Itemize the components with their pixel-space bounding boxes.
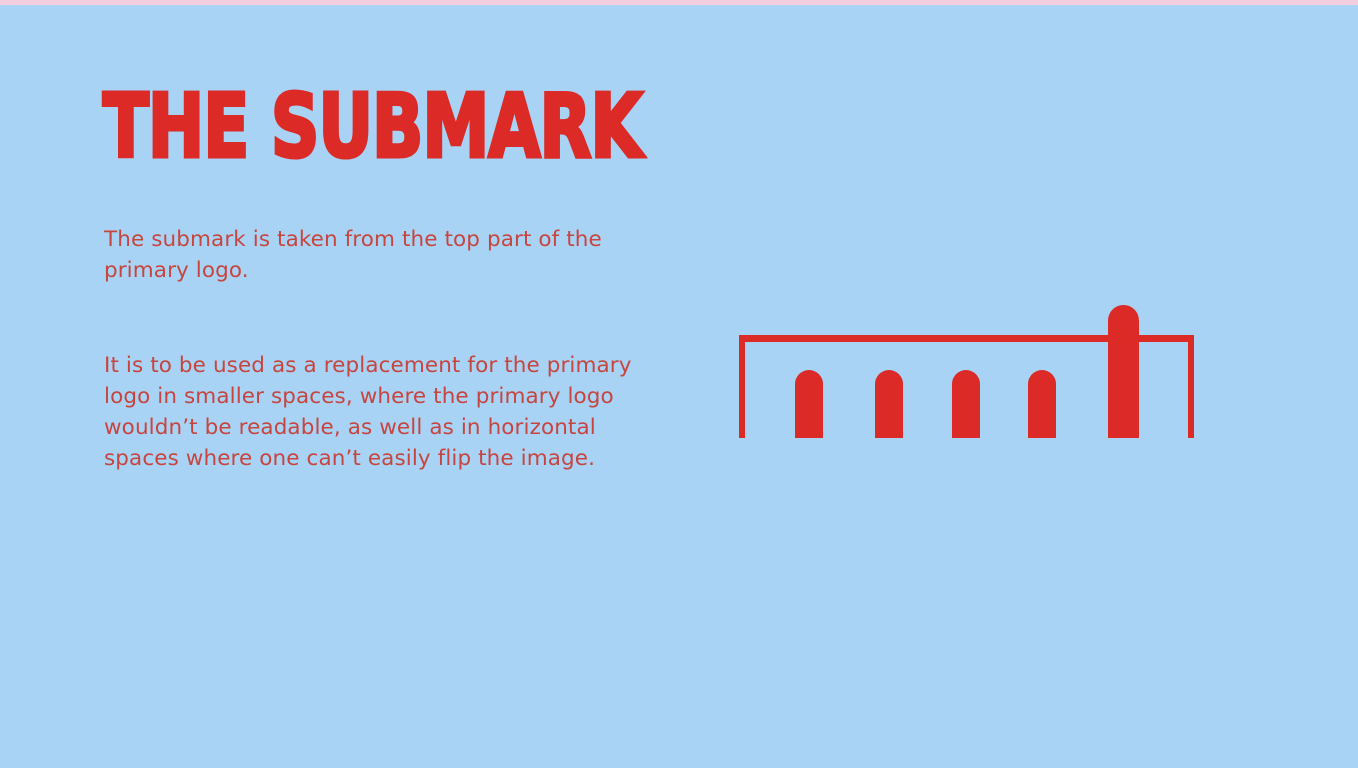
top-edge-strip <box>0 0 1358 5</box>
slide-canvas: THE SUBMARK The submark is taken from th… <box>0 0 1358 768</box>
submark-pillar-2 <box>875 370 903 438</box>
intro-paragraph: The submark is taken from the top part o… <box>104 224 644 286</box>
page-title: THE SUBMARK <box>103 86 649 168</box>
submark-left-leg <box>739 335 745 438</box>
submark-tall-pillar <box>1108 305 1139 438</box>
submark-logo <box>735 298 1200 443</box>
submark-pillar-4 <box>1028 370 1056 438</box>
submark-right-leg <box>1188 335 1194 438</box>
submark-pillar-1 <box>795 370 823 438</box>
submark-pillar-3 <box>952 370 980 438</box>
submark-graphic <box>735 298 1200 443</box>
usage-paragraph: It is to be used as a replacement for th… <box>104 350 664 474</box>
